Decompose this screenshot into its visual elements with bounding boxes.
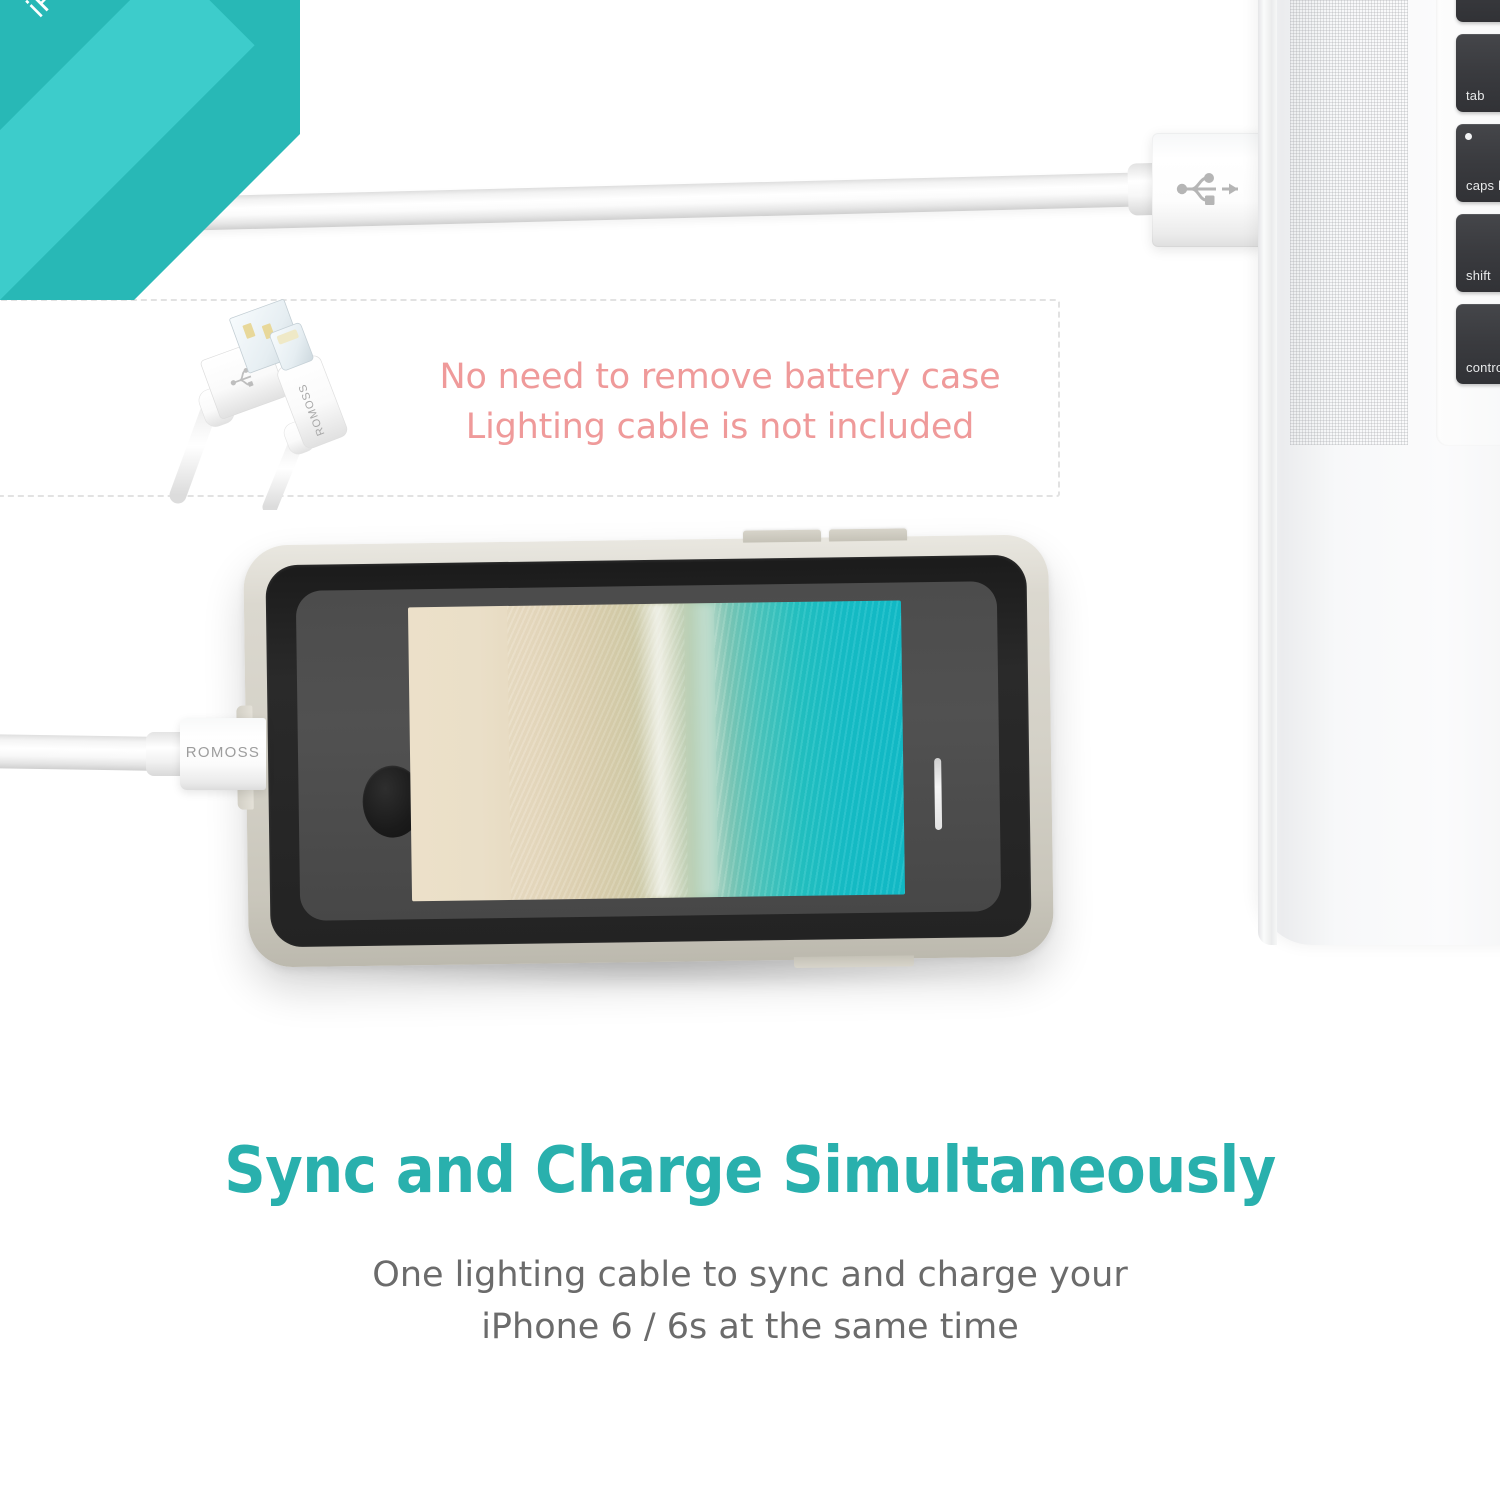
key-tab-label: tab — [1466, 88, 1485, 103]
key-caps-lock[interactable]: caps l — [1456, 124, 1500, 202]
laptop-side-edge — [1258, 0, 1271, 945]
key-tab[interactable]: tab — [1456, 34, 1500, 112]
key-control-label: control — [1466, 360, 1500, 375]
key-caps-lock-label: caps l — [1466, 178, 1500, 193]
lightning-cable-left — [0, 734, 166, 771]
loose-cable-illustration: ROMOSS — [100, 295, 410, 510]
key-control[interactable]: control — [1456, 304, 1500, 384]
headline: Sync and Charge Simultaneously — [0, 1134, 1500, 1208]
phone-bezel: 100% Charged — [296, 581, 1002, 921]
lightning-connector-brand: ROMOSS — [180, 744, 266, 761]
note-line-2: Lighting cable is not included — [400, 402, 1040, 452]
laptop-body: esc ~ ` tab caps l shift control — [1258, 0, 1500, 945]
power-button[interactable] — [794, 955, 914, 968]
earpiece-speaker — [934, 758, 942, 830]
key-shift-label: shift — [1466, 268, 1491, 283]
lightning-connector: ROMOSS — [180, 718, 266, 790]
subtitle: One lighting cable to sync and charge yo… — [0, 1250, 1500, 1354]
corner-ribbon: Only iPhone 6 /6s 4.7" — [0, 0, 300, 300]
phone-body: 100% Charged — [265, 555, 1031, 948]
laptop-keyboard: esc ~ ` tab caps l shift control — [1436, 0, 1500, 446]
subtitle-line-1: One lighting cable to sync and charge yo… — [0, 1250, 1500, 1302]
iphone-in-battery-case: 100% Charged — [243, 534, 1054, 967]
key-shift[interactable]: shift — [1456, 214, 1500, 292]
note-line-1: No need to remove battery case — [400, 352, 1040, 402]
volume-down-button[interactable] — [829, 528, 907, 541]
usb-trident-icon — [1176, 169, 1244, 209]
caps-lock-indicator-icon — [1465, 133, 1472, 140]
usb-a-connector — [1152, 133, 1264, 247]
phone-screen[interactable]: 100% Charged — [408, 600, 905, 901]
key-tilde[interactable]: ~ ` — [1456, 0, 1500, 22]
note-text: No need to remove battery case Lighting … — [400, 352, 1040, 453]
ribbon-line-2: iPhone 6 /6s — [20, 0, 170, 24]
subtitle-line-2: iPhone 6 / 6s at the same time — [0, 1302, 1500, 1354]
volume-up-button[interactable] — [743, 530, 821, 543]
product-marketing-image: esc ~ ` tab caps l shift control — [0, 0, 1500, 1500]
wallpaper-water-texture — [714, 600, 905, 897]
laptop-side-edge-inner — [1271, 0, 1277, 945]
battery-case-shell: 100% Charged — [243, 534, 1054, 967]
laptop-speaker-grille — [1290, 0, 1408, 445]
